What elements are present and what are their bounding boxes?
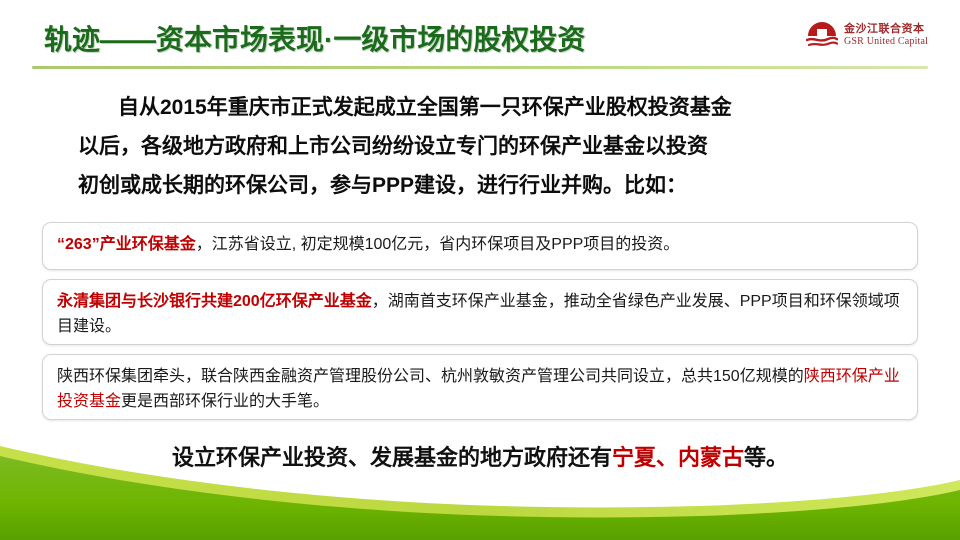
intro-line-2: 以后，各级地方政府和上市公司纷纷设立专门的环保产业基金以投资 [64, 127, 900, 166]
page-title: 轨迹——资本市场表现·一级市场的股权投资 [44, 18, 585, 58]
green-grass-wave-footer [0, 410, 960, 540]
intro-paragraph: 自从2015年重庆市正式发起成立全国第一只环保产业股权投资基金 以后，各级地方政… [64, 88, 900, 205]
list-item[interactable]: “263”产业环保基金，江苏省设立, 初定规模100亿元，省内环保项目及PPP项… [42, 222, 918, 270]
company-logo: 金沙江联合资本 GSR United Capital [806, 20, 928, 50]
sunrise-over-river-logo-icon [806, 20, 838, 50]
logo-wordmark: 金沙江联合资本 GSR United Capital [844, 23, 928, 47]
logo-chinese-name: 金沙江联合资本 [844, 23, 928, 35]
list-item[interactable]: 永清集团与长沙银行共建200亿环保产业基金，湖南首支环保产业基金，推动全省绿色产… [42, 279, 918, 345]
intro-line-3: 初创或成长期的环保公司，参与PPP建设，进行行业并购。比如： [64, 166, 900, 205]
box-3-text-post: 更是西部环保行业的大手笔。 [121, 393, 329, 410]
box-1-highlight: “263”产业环保基金 [57, 236, 196, 253]
box-3-text-pre: 陕西环保集团牵头，联合陕西金融资产管理股份公司、杭州敦敏资产管理公司共同设立，总… [57, 368, 804, 385]
title-underline-rule [32, 66, 928, 69]
footer-highlight-regions: 宁夏、内蒙古 [612, 445, 744, 470]
footer-text-post: 等。 [744, 445, 788, 470]
intro-line-1: 自从2015年重庆市正式发起成立全国第一只环保产业股权投资基金 [64, 88, 900, 127]
box-2-highlight: 永清集团与长沙银行共建200亿环保产业基金 [57, 293, 372, 310]
logo-english-name: GSR United Capital [844, 36, 928, 47]
slide-header: 轨迹——资本市场表现·一级市场的股权投资 金沙江联合资本 GSR United … [0, 0, 960, 72]
footer-statement: 设立环保产业投资、发展基金的地方政府还有宁夏、内蒙古等。 [0, 440, 960, 472]
box-1-text: ，江苏省设立, 初定规模100亿元，省内环保项目及PPP项目的投资。 [196, 236, 680, 253]
slide-root: 轨迹——资本市场表现·一级市场的股权投资 金沙江联合资本 GSR United … [0, 0, 960, 540]
footer-text-pre: 设立环保产业投资、发展基金的地方政府还有 [172, 445, 612, 470]
fund-examples-list: “263”产业环保基金，江苏省设立, 初定规模100亿元，省内环保项目及PPP项… [42, 222, 918, 429]
